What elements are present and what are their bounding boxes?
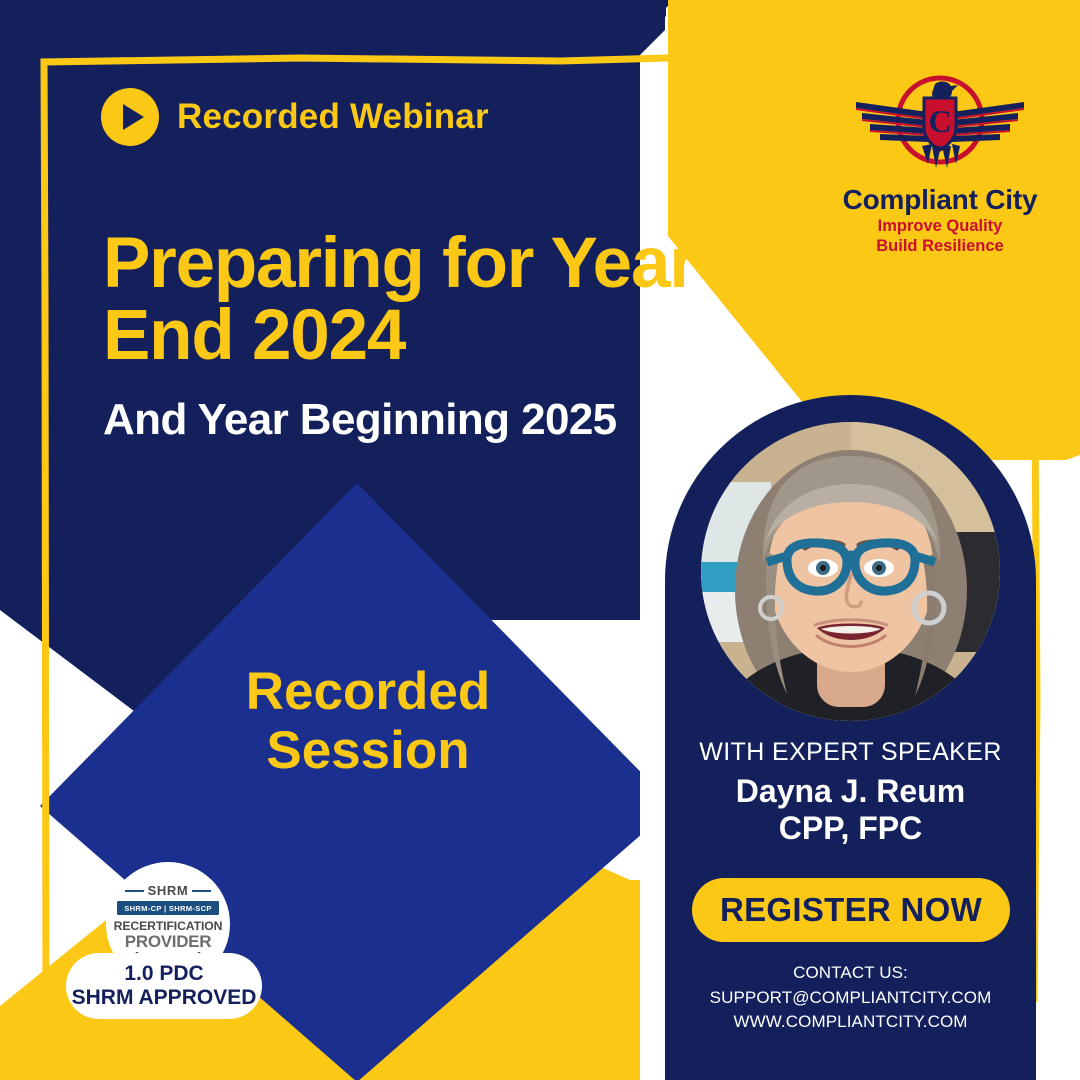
headline-block: Preparing for Year End 2024 And Year Beg… bbox=[103, 228, 703, 445]
page-title: Preparing for Year End 2024 bbox=[103, 228, 703, 373]
register-now-button[interactable]: REGISTER NOW bbox=[692, 878, 1010, 942]
seal-certification-band: SHRM-CP | SHRM-SCP bbox=[117, 901, 219, 915]
pdc-approved-text: SHRM APPROVED bbox=[72, 986, 257, 1010]
logo-tagline-2: Build Resilience bbox=[836, 236, 1044, 256]
recorded-session-label: Recorded Session bbox=[168, 662, 568, 781]
speaker-portrait bbox=[701, 422, 1000, 721]
with-expert-speaker-label: WITH EXPERT SPEAKER bbox=[665, 738, 1036, 767]
play-icon bbox=[101, 88, 159, 146]
logo-tagline-1: Improve Quality bbox=[836, 216, 1044, 236]
recorded-webinar-badge: Recorded Webinar bbox=[101, 88, 489, 146]
recorded-session-line-1: Recorded bbox=[168, 662, 568, 721]
contact-website[interactable]: WWW.COMPLIANTCITY.COM bbox=[665, 1010, 1036, 1035]
pdc-credits: 1.0 PDC bbox=[124, 962, 203, 986]
logo-brand-name: Compliant City bbox=[836, 184, 1044, 216]
seal-provider-text: PROVIDER bbox=[125, 933, 211, 950]
seal-recertification-text: RECERTIFICATION bbox=[114, 919, 223, 933]
speaker-name-block: Dayna J. Reum CPP, FPC bbox=[665, 773, 1036, 847]
shrm-pdc-badge: 1.0 PDC SHRM APPROVED bbox=[66, 953, 262, 1019]
seal-shrm-text: SHRM bbox=[148, 883, 189, 898]
recorded-session-line-2: Session bbox=[168, 721, 568, 780]
svg-text:C: C bbox=[928, 103, 951, 139]
seal-rule-left bbox=[125, 890, 144, 892]
speaker-credentials: CPP, FPC bbox=[665, 810, 1036, 847]
speaker-panel: WITH EXPERT SPEAKER Dayna J. Reum CPP, F… bbox=[665, 395, 1036, 1080]
page-subtitle: And Year Beginning 2025 bbox=[103, 395, 703, 445]
compliant-city-logo: C Compliant City Improve Quality Build R… bbox=[836, 72, 1044, 256]
eagle-shield-logo-icon: C bbox=[836, 72, 1044, 177]
speaker-full-name: Dayna J. Reum bbox=[665, 773, 1036, 810]
recorded-webinar-label: Recorded Webinar bbox=[177, 97, 489, 137]
webinar-poster: Recorded Webinar bbox=[0, 0, 1080, 1080]
contact-heading: CONTACT US: bbox=[665, 961, 1036, 986]
contact-email[interactable]: SUPPORT@COMPLIANTCITY.COM bbox=[665, 986, 1036, 1011]
contact-info: CONTACT US: SUPPORT@COMPLIANTCITY.COM WW… bbox=[665, 961, 1036, 1035]
seal-rule-right bbox=[192, 890, 211, 892]
